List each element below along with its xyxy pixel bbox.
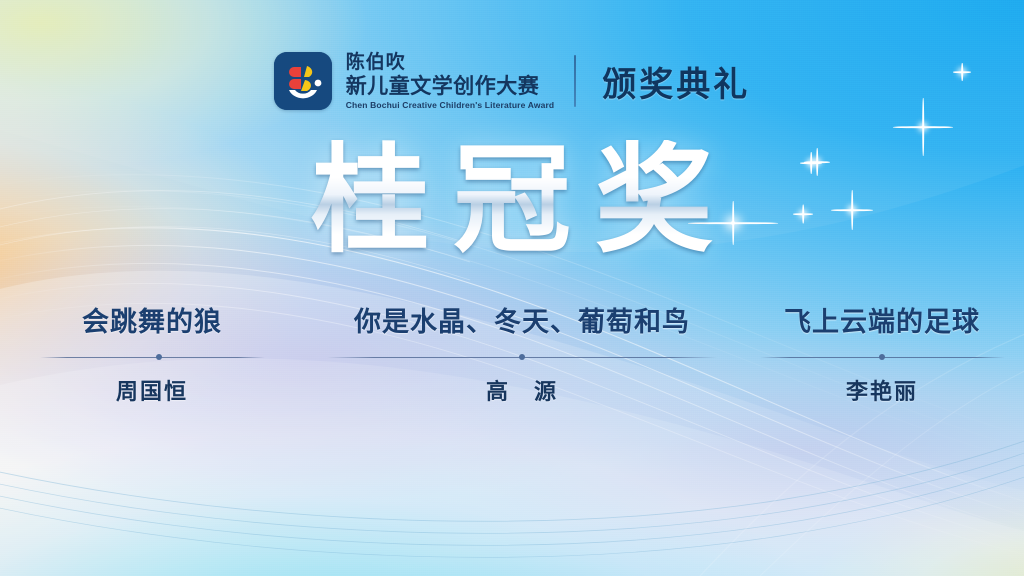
event-header: 陈伯吹 新儿童文学创作大赛 Chen Bochui Creative Child… (0, 52, 1024, 110)
winner-entry: 飞上云端的足球 李艳丽 (732, 300, 1024, 406)
winner-entry: 会跳舞的狼 周国恒 (0, 300, 312, 406)
org-name-english: Chen Bochui Creative Children's Literatu… (346, 101, 555, 110)
work-title: 会跳舞的狼 (0, 300, 312, 339)
work-title: 你是水晶、冬天、葡萄和鸟 (312, 300, 732, 339)
entry-divider (40, 352, 265, 362)
award-title-block: 桂冠奖 (0, 140, 1024, 264)
header-divider (574, 55, 576, 107)
ceremony-label: 颁奖典礼 (602, 57, 750, 106)
work-author: 周国恒 (0, 374, 312, 406)
work-title: 飞上云端的足球 (732, 300, 1024, 339)
entry-divider (327, 352, 717, 362)
org-name-line2: 新儿童文学创作大赛 (346, 76, 555, 97)
organization-title-block: 陈伯吹 新儿童文学创作大赛 Chen Bochui Creative Child… (346, 53, 555, 110)
entry-divider (760, 352, 1005, 362)
winner-entries: 会跳舞的狼 周国恒 你是水晶、冬天、葡萄和鸟 高 源 飞上云端的足球 李艳丽 (0, 300, 1024, 406)
entry-divider-dot (519, 354, 525, 360)
entry-divider-dot (879, 354, 885, 360)
chen-bochui-smile-logo-icon (274, 52, 332, 110)
winner-entry: 你是水晶、冬天、葡萄和鸟 高 源 (312, 300, 732, 406)
work-author: 李艳丽 (732, 374, 1024, 406)
award-title: 桂冠奖 (287, 140, 737, 264)
entry-divider-line (40, 357, 265, 358)
award-ceremony-slide: 陈伯吹 新儿童文学创作大赛 Chen Bochui Creative Child… (0, 0, 1024, 576)
work-author: 高 源 (312, 374, 732, 406)
org-name-line1: 陈伯吹 (346, 53, 555, 72)
entry-divider-dot (156, 354, 162, 360)
